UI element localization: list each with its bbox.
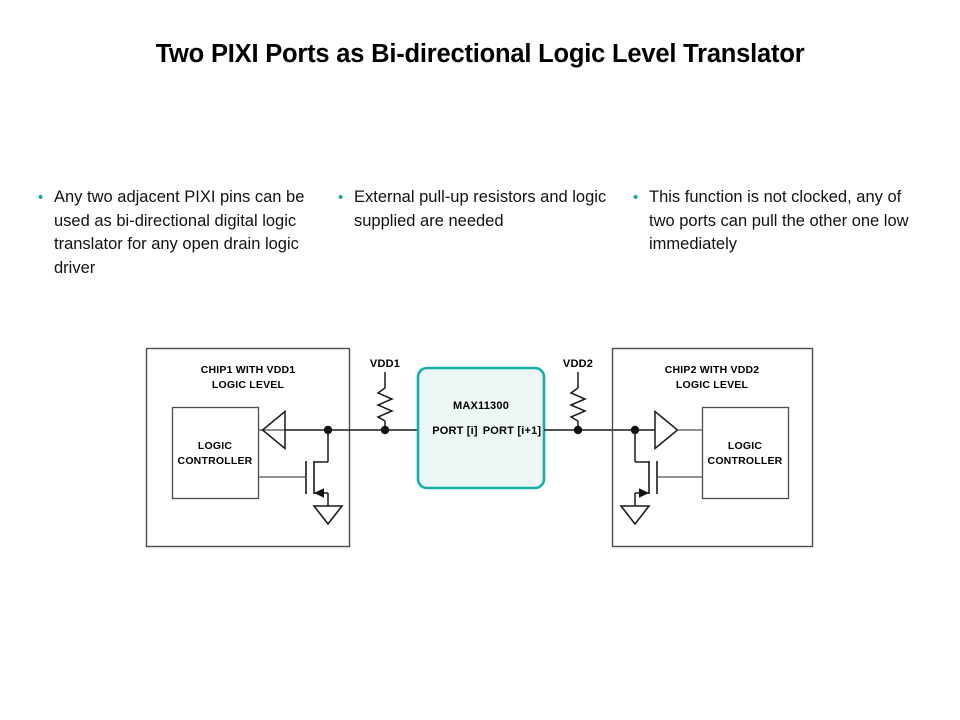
chip2-logic-controller-box [703, 408, 789, 499]
chip2-logic-label-line1: LOGIC [728, 440, 762, 452]
vdd2-pullup-resistor-icon [571, 388, 585, 421]
chip2-ground-icon [621, 506, 649, 524]
chip2-title-line1: CHIP2 WITH VDD2 [665, 364, 760, 376]
vdd2-junction-dot [574, 426, 582, 434]
slide-canvas: Two PIXI Ports as Bi-directional Logic L… [0, 0, 960, 720]
chip1-logic-controller-box [173, 408, 259, 499]
chip1-logic-label-line2: CONTROLLER [178, 455, 253, 467]
max11300-part-number: MAX11300 [453, 400, 509, 412]
vdd2-label: VDD2 [563, 358, 593, 370]
chip2-buffer-icon [655, 412, 678, 449]
max11300-port-left-label: PORT [i] [432, 425, 478, 437]
chip1-logic-label-line1: LOGIC [198, 440, 232, 452]
vdd1-pullup-resistor-icon [378, 388, 392, 421]
chip1-title-line2: LOGIC LEVEL [212, 379, 285, 391]
chip2-logic-label-line2: CONTROLLER [708, 455, 783, 467]
chip1-ground-icon [314, 506, 342, 524]
chip1-title-line1: CHIP1 WITH VDD1 [201, 364, 296, 376]
chip1-mosfet-source-arrow-icon [314, 488, 324, 498]
chip2-title-line2: LOGIC LEVEL [676, 379, 749, 391]
max11300-port-right-label: PORT [i+1] [483, 425, 542, 437]
chip2-mosfet-source-arrow-icon [639, 488, 649, 498]
circuit-diagram: CHIP1 WITH VDD1 LOGIC LEVEL LOGIC CONTRO… [0, 0, 960, 720]
vdd1-label: VDD1 [370, 358, 400, 370]
